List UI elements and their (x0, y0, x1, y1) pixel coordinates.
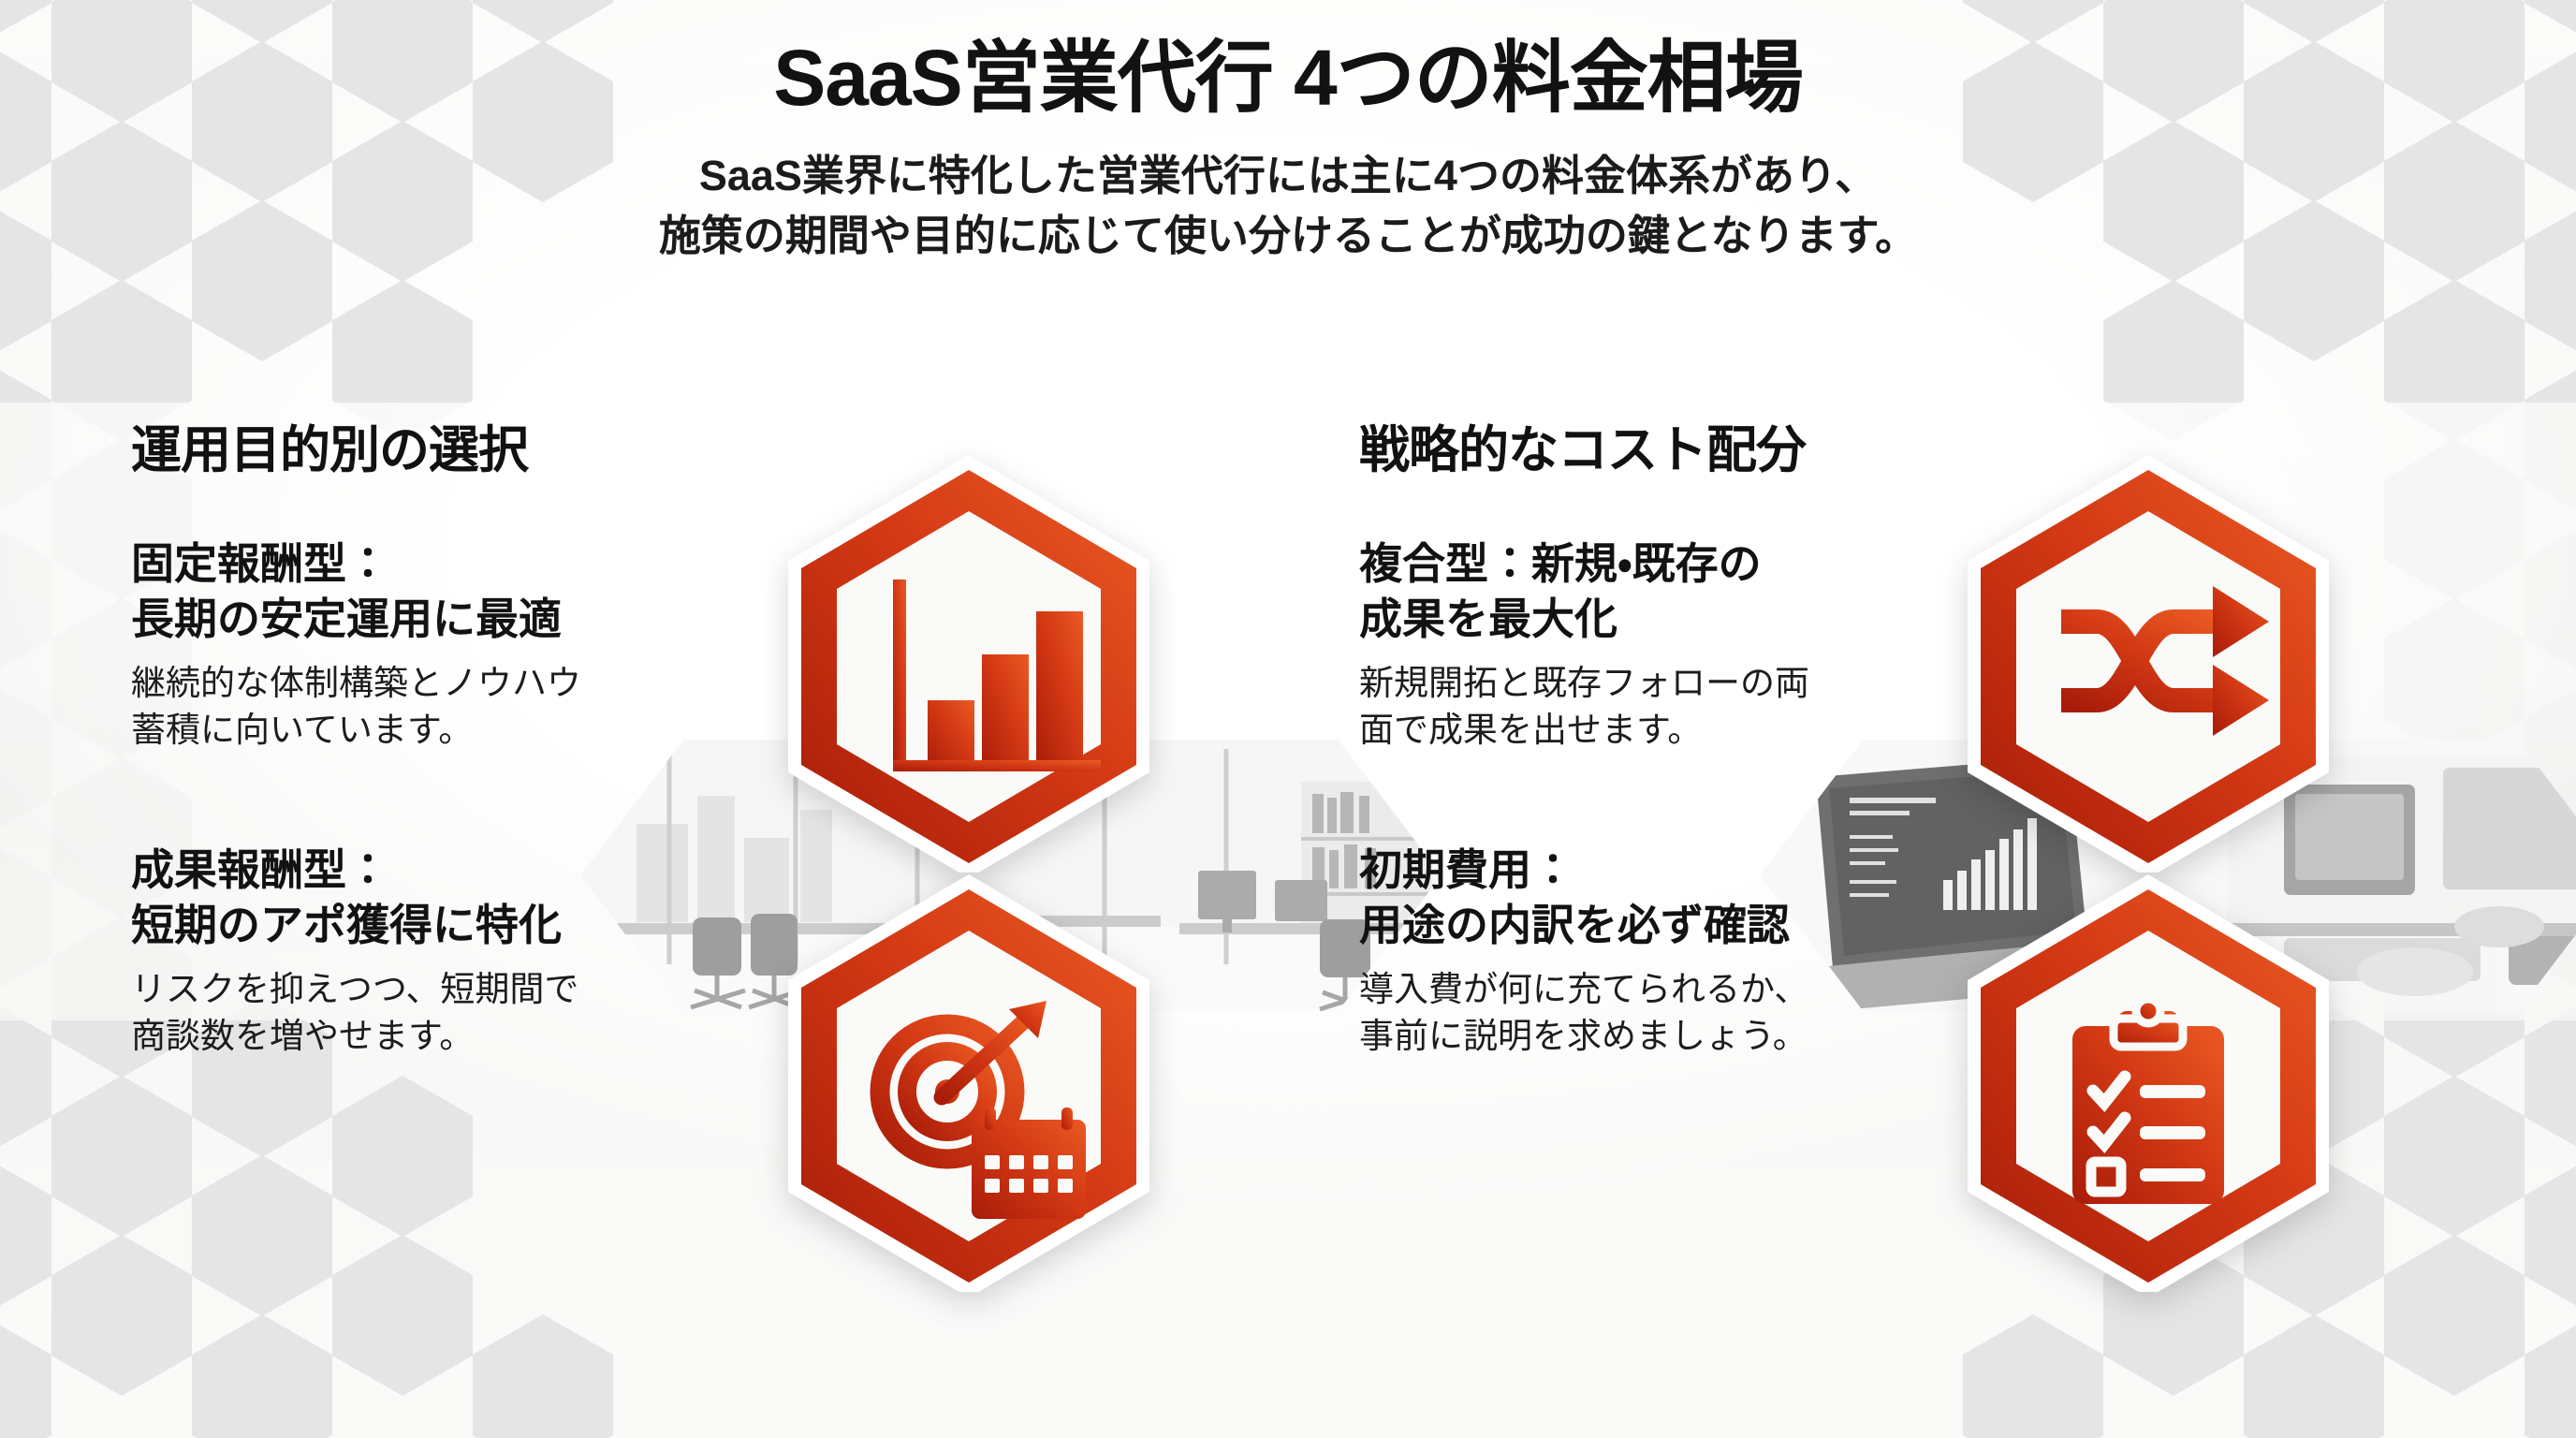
entry-hybrid-fee: 複合型：新規・既存の 成果を最大化 新規開拓と既存フォローの両 面で成果を出せま… (1359, 536, 1977, 753)
entry-desc-line-1: 新規開拓と既存フォローの両 (1359, 660, 1977, 707)
entry-title-line-2: 成果を最大化 (1359, 592, 1977, 647)
entry-description: 継続的な体制構築とノウハウ 蓄積に向いています。 (131, 660, 749, 753)
entry-desc-line-2: 面で成果を出せます。 (1359, 707, 1977, 754)
icon-cluster-right (1900, 449, 2481, 1292)
entry-title-line-2: 長期の安定運用に最適 (131, 592, 749, 647)
entry-desc-line-1: リスクを抑えつつ、短期間で (131, 966, 749, 1013)
entry-title-line-1: 初期費用： (1359, 843, 1977, 898)
slide-header: SaaS営業代行 4つの料金相場 SaaS業界に特化した営業代行には主に4つの料… (0, 34, 2576, 266)
entry-desc-line-2: 商談数を増やせます。 (131, 1013, 749, 1060)
entry-desc-line-2: 蓄積に向いています。 (131, 707, 749, 754)
column-operational-purpose: 運用目的別の選択 固定報酬型： 長期の安定運用に最適 継続的な体制構築とノウハウ… (131, 423, 749, 1059)
column-strategic-cost: 戦略的なコスト配分 複合型：新規・既存の 成果を最大化 新規開拓と既存フォローの… (1359, 423, 1977, 1059)
entry-description: 導入費が何に充てられるか、 事前に説明を求めましょう。 (1359, 966, 1977, 1059)
entry-title: 複合型：新規・既存の 成果を最大化 (1359, 536, 1977, 647)
entry-title-line-1: 固定報酬型： (131, 536, 749, 592)
entry-title: 固定報酬型： 長期の安定運用に最適 (131, 536, 749, 647)
entry-title: 初期費用： 用途の内訳を必ず確認 (1359, 843, 1977, 953)
entry-title-line-1: 成果報酬型： (131, 843, 749, 898)
page-subtitle: SaaS業界に特化した営業代行には主に4つの料金体系があり、 施策の期間や目的に… (586, 146, 1990, 266)
entry-initial-cost: 初期費用： 用途の内訳を必ず確認 導入費が何に充てられるか、 事前に説明を求めま… (1359, 843, 1977, 1059)
entry-description: 新規開拓と既存フォローの両 面で成果を出せます。 (1359, 660, 1977, 753)
entry-desc-line-1: 導入費が何に充てられるか、 (1359, 966, 1977, 1013)
entry-title-line-2: 短期のアポ獲得に特化 (131, 898, 749, 953)
entry-description: リスクを抑えつつ、短期間で 商談数を増やせます。 (131, 966, 749, 1059)
infographic-slide: SaaS営業代行 4つの料金相場 SaaS業界に特化した営業代行には主に4つの料… (0, 0, 2576, 1438)
entry-desc-line-1: 継続的な体制構築とノウハウ (131, 660, 749, 707)
entry-title-line-1: 複合型：新規・既存の (1359, 536, 1977, 592)
shuffle-arrows-icon (1956, 449, 2340, 873)
entry-title: 成果報酬型： 短期のアポ獲得に特化 (131, 843, 749, 953)
column-heading: 運用目的別の選択 (131, 423, 749, 478)
icon-cluster-left (721, 449, 1301, 1292)
entry-desc-line-2: 事前に説明を求めましょう。 (1359, 1013, 1977, 1060)
clipboard-checklist-icon (1956, 869, 2340, 1292)
entry-performance-fee: 成果報酬型： 短期のアポ獲得に特化 リスクを抑えつつ、短期間で 商談数を増やせま… (131, 843, 749, 1059)
entry-fixed-fee: 固定報酬型： 長期の安定運用に最適 継続的な体制構築とノウハウ 蓄積に向いていま… (131, 536, 749, 753)
target-calendar-icon (777, 869, 1161, 1292)
subtitle-line-1: SaaS業界に特化した営業代行には主に4つの料金体系があり、 (586, 146, 1990, 206)
subtitle-line-2: 施策の期間や目的に応じて使い分けることが成功の鍵となります。 (586, 206, 1990, 266)
entry-title-line-2: 用途の内訳を必ず確認 (1359, 898, 1977, 953)
bar-chart-icon (777, 449, 1161, 873)
column-heading: 戦略的なコスト配分 (1359, 423, 1977, 478)
page-title: SaaS営業代行 4つの料金相場 (0, 34, 2576, 122)
